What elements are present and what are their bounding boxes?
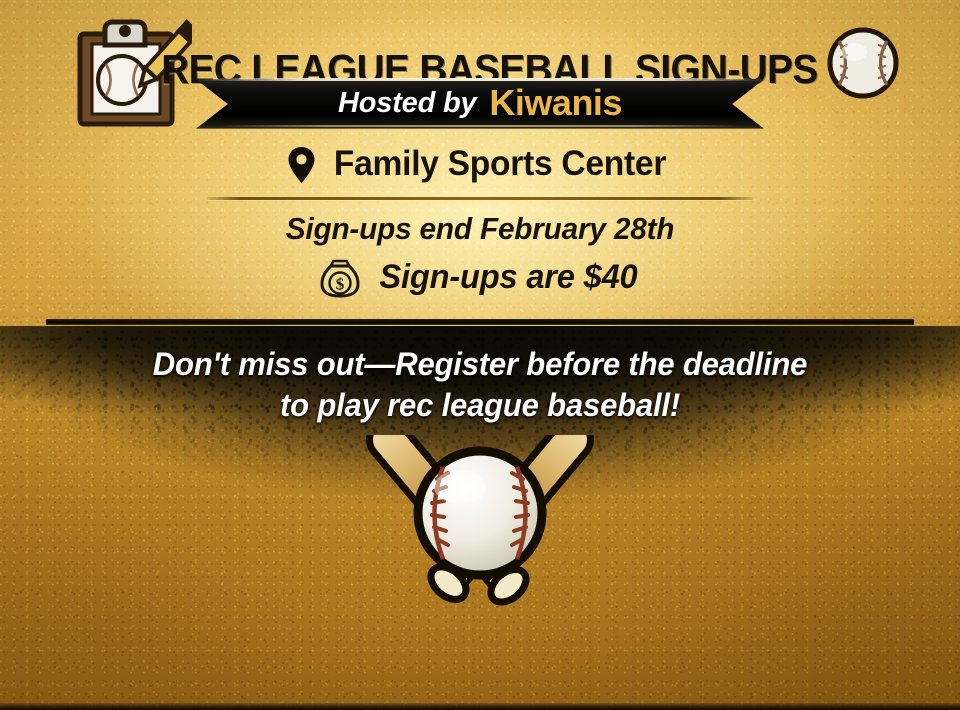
host-ribbon-banner: Hosted by Kiwanis [196, 76, 764, 132]
hosted-by-label: Hosted by [338, 87, 476, 120]
cta-line-1: Don't miss out—Register before the deadl… [14, 344, 945, 385]
flyer-poster: REC LEAGUE BASEBALL SIGN-UPS Hosted by K… [0, 0, 960, 710]
bottom-edge-strip [0, 703, 960, 710]
ribbon-text: Hosted by Kiwanis [196, 76, 764, 132]
baseball-icon [824, 24, 902, 102]
divider-gold-line [55, 326, 906, 328]
crossed-bats-baseball-icon [297, 435, 663, 625]
venue-name: Family Sports Center [334, 144, 666, 184]
host-organization-name: Kiwanis [489, 82, 622, 124]
deadline-text: Sign-ups end February 28th [19, 211, 941, 247]
cta-line-2: to play rec league baseball! [14, 385, 945, 426]
call-to-action-text: Don't miss out—Register before the deadl… [14, 344, 945, 426]
price-row: $ Sign-ups are $40 [0, 255, 960, 299]
svg-text:$: $ [335, 275, 344, 294]
venue-divider-rule [207, 197, 753, 200]
price-text: Sign-ups are $40 [379, 258, 637, 297]
money-bag-icon: $ [318, 255, 362, 299]
venue-row: Family Sports Center [0, 144, 960, 184]
section-divider-band [46, 318, 914, 330]
divider-black-line [46, 319, 914, 325]
header-row: REC LEAGUE BASEBALL SIGN-UPS [0, 6, 960, 76]
location-pin-icon [287, 146, 316, 184]
